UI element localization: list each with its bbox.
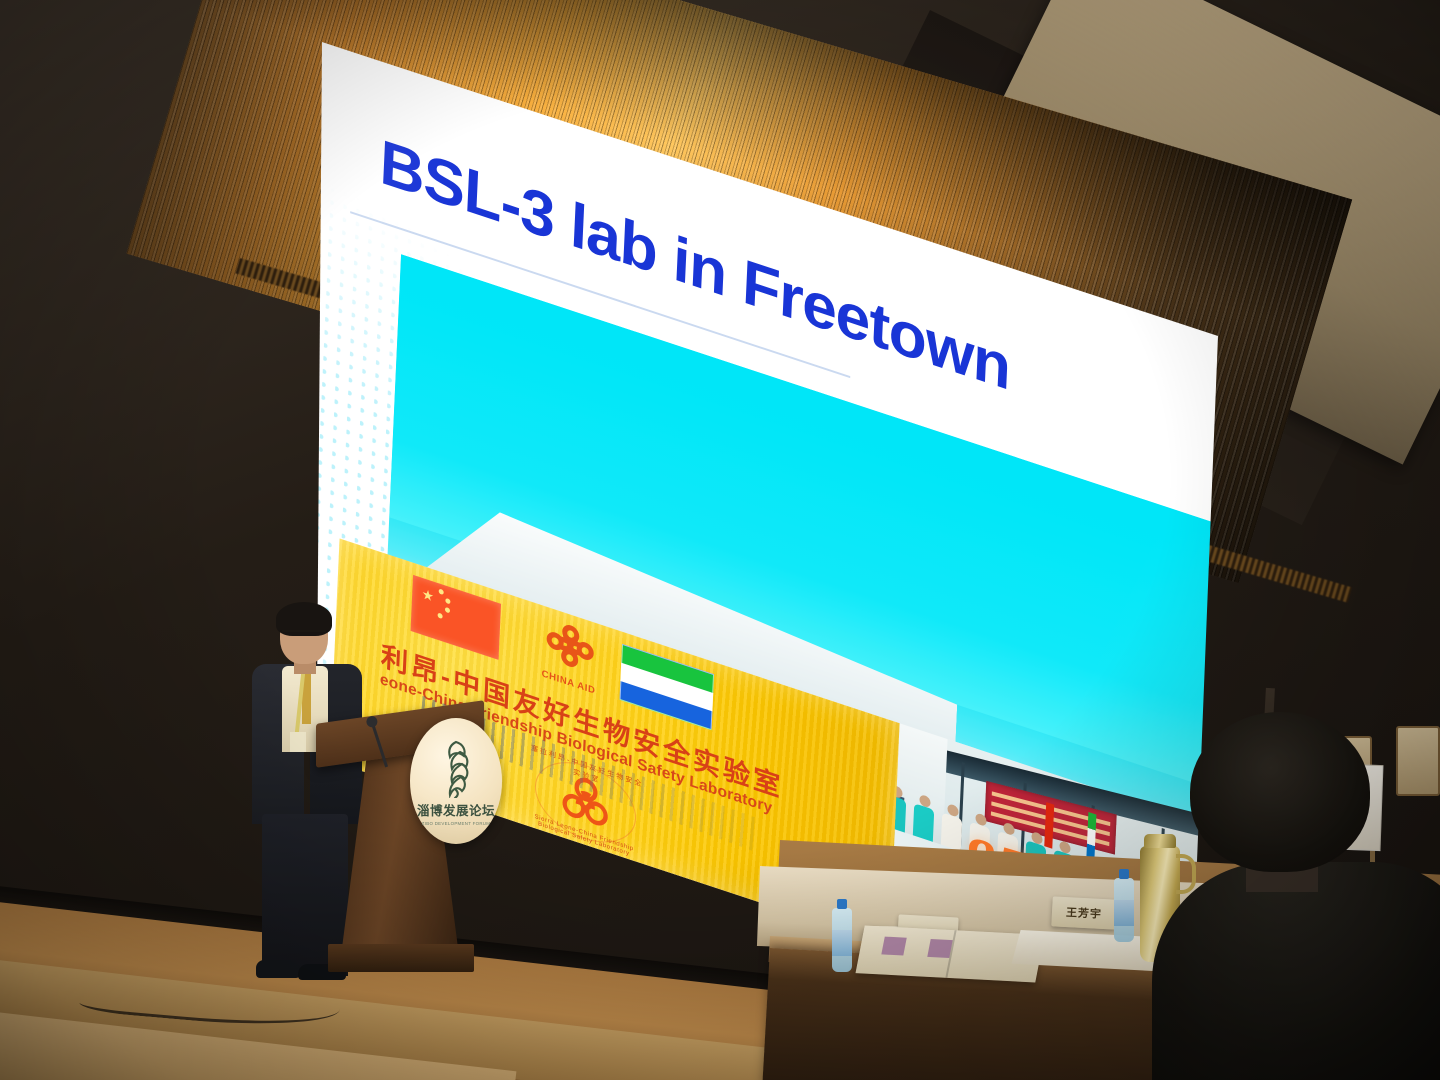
- pine-cone-emblem-icon: [436, 736, 476, 798]
- china-aid-knot-icon: [543, 616, 597, 679]
- attendee-head: [1190, 712, 1370, 872]
- glasses-icon: [282, 630, 326, 639]
- nameplate-right: 王芳宇: [1051, 896, 1116, 929]
- podium-sign-english: ZIBO DEVELOPMENT FORUM: [422, 821, 490, 826]
- presentation-scene: BSL-3 lab in Freetown: [0, 0, 1440, 1080]
- water-bottle-1: [832, 908, 852, 972]
- seated-attendee: [1168, 712, 1440, 1080]
- speaker-shoe-left: [256, 960, 300, 978]
- speaker-badge: [290, 732, 306, 752]
- water-bottle-2: [1114, 878, 1134, 942]
- podium-sign: 淄博发展论坛 ZIBO DEVELOPMENT FORUM: [410, 718, 502, 844]
- podium-sign-chinese: 淄博发展论坛: [417, 800, 495, 819]
- podium: 淄博发展论坛 ZIBO DEVELOPMENT FORUM: [316, 712, 484, 984]
